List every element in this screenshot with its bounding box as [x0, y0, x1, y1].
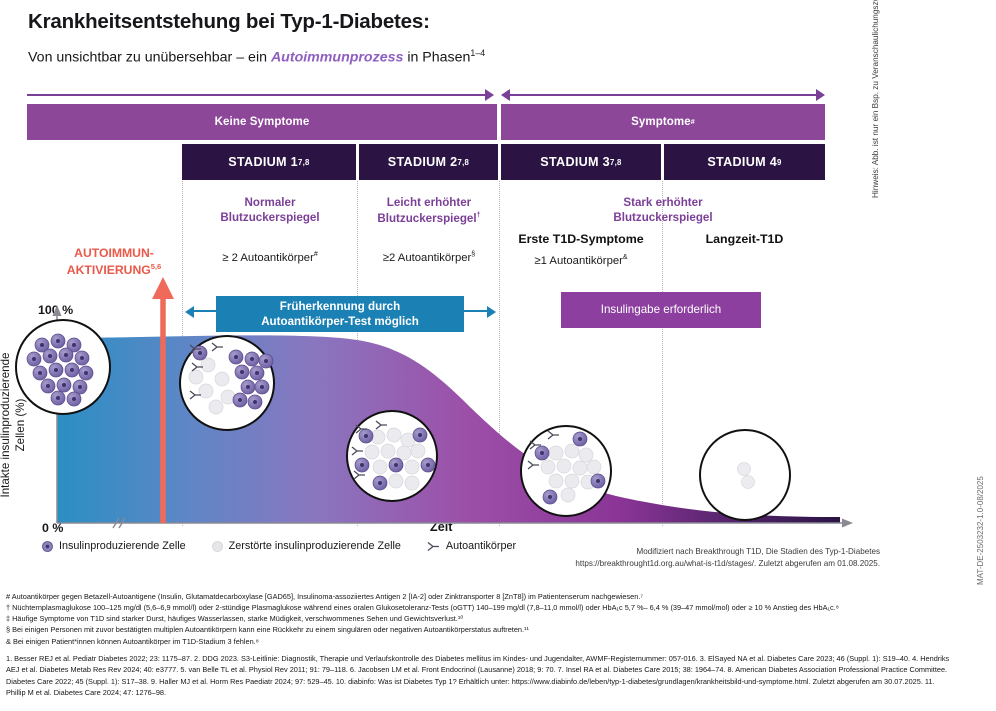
arrow-no-symptoms: [27, 89, 497, 101]
cell-cluster-1: [16, 320, 110, 414]
footnote-ddagger: ‡ Häufige Symptome von T1D sind starker …: [6, 613, 936, 624]
stage2-glucose-superscript: †: [477, 210, 481, 219]
footnote-section: § Bei einigen Personen mit zuvor bestäti…: [6, 624, 936, 635]
insulin-cell-decline-chart: [0, 295, 880, 540]
symptom-bar-symptoms: Symptome#: [501, 104, 825, 140]
stage3-symptom-title: Erste T1D-Symptome: [501, 231, 661, 247]
destroyed-cell-marker-icon: [212, 541, 223, 552]
symptom-bar-none: Keine Symptome: [27, 104, 497, 140]
stage-bar-4-label: STADIUM 4: [707, 155, 777, 169]
mat-code: MAT-DE-2503232-1.0-08/2025: [976, 476, 985, 585]
stage-bar-3-label: STADIUM 3: [540, 155, 610, 169]
stage3-symptom-title-text: Erste T1D-Symptome: [518, 232, 643, 246]
source-line1: Modifiziert nach Breakthrough T1D, Die S…: [636, 547, 880, 556]
stage-bar-4-superscript: 9: [777, 158, 782, 167]
footnotes-block: # Autoantikörper gegen Betazell-Autoanti…: [6, 591, 936, 647]
legend-item-intact-cell: Insulinproduzierende Zelle: [42, 540, 186, 552]
autoimmune-line1: AUTOIMMUN-: [74, 246, 154, 260]
symptom-bar-symptoms-superscript: #: [691, 118, 695, 126]
autoimmune-activation-label: AUTOIMMUN- AKTIVIERUNG5,6: [54, 246, 174, 279]
stage2-autoantibody-label: ≥2 Autoantikörper§: [359, 250, 499, 266]
subtitle-emphasis: Autoimmunprozess: [271, 50, 403, 66]
stage3-autoantibody-text: ≥1 Autoantikörper: [534, 255, 622, 267]
stage3-glucose-line2: Blutzuckerspiegel: [613, 211, 712, 224]
illustration-disclaimer: Hinweis: Abb. ist nur ein Bsp. zu Verans…: [871, 0, 880, 198]
autoimmune-line2: AKTIVIERUNG: [67, 263, 151, 277]
page-title: Krankheitsentstehung bei Typ-1-Diabetes:: [28, 10, 430, 34]
chart-legend: Insulinproduzierende Zelle Zerstörte ins…: [42, 540, 516, 552]
stage-bar-3-superscript: 7,8: [610, 158, 622, 167]
stage3-autoantibody-label: ≥1 Autoantikörper&: [501, 253, 661, 269]
stage2-glucose-line2: Blutzuckerspiegel: [377, 212, 476, 225]
stage2-glucose-label: Leicht erhöhter Blutzuckerspiegel†: [359, 195, 499, 226]
stage3-autoantibody-superscript: &: [623, 254, 628, 261]
infographic-page: Krankheitsentstehung bei Typ-1-Diabetes:…: [0, 0, 996, 711]
footnote-ampersand: & Bei einigen Patient*innen können Autoa…: [6, 636, 936, 647]
intact-cell-marker-icon: [42, 541, 53, 552]
stage-bar-2-superscript: 7,8: [457, 158, 469, 167]
stage-bar-1-label: STADIUM 1: [228, 155, 298, 169]
autoimmune-superscript: 5,6: [151, 262, 162, 271]
stage4-title-text: Langzeit-T1D: [706, 232, 784, 246]
stage-bar-2-label: STADIUM 2: [388, 155, 458, 169]
legend-label-antibody: Autoantikörper: [446, 540, 516, 552]
references-block: 1. Besser REJ et al. Pediatr Diabetes 20…: [6, 653, 952, 699]
stage-bar-2: STADIUM 27,8: [359, 144, 498, 180]
antibody-marker-icon: [427, 541, 440, 552]
footnote-hash: # Autoantikörper gegen Betazell-Autoanti…: [6, 591, 936, 602]
stage1-glucose-label: Normaler Blutzuckerspiegel: [184, 195, 356, 226]
stage1-glucose-line2: Blutzuckerspiegel: [220, 211, 319, 224]
source-attribution: Modifiziert nach Breakthrough T1D, Die S…: [575, 546, 880, 569]
stage-bar-1: STADIUM 17,8: [182, 144, 356, 180]
stage2-autoantibody-text: ≥2 Autoantikörper: [383, 252, 471, 264]
chart-y-axis-arrow-icon: [53, 305, 62, 316]
subtitle-pre: Von unsichtbar zu unübersehbar – ein: [28, 50, 271, 66]
stage1-autoantibody-text: ≥ 2 Autoantikörper: [222, 252, 314, 264]
stage1-autoantibody-label: ≥ 2 Autoantikörper#: [184, 250, 356, 266]
stage3-glucose-line1: Stark erhöhter: [623, 196, 702, 209]
legend-item-destroyed-cell: Zerstörte insulinproduzierende Zelle: [212, 540, 401, 552]
chart-x-axis-arrow-icon: [842, 519, 853, 528]
stage2-autoantibody-superscript: §: [471, 251, 475, 258]
symptom-bar-symptoms-label: Symptome: [631, 116, 691, 128]
stage3-glucose-label: Stark erhöhter Blutzuckerspiegel: [501, 195, 825, 226]
cell-cluster-2: [180, 336, 274, 430]
legend-label-destroyed-cell: Zerstörte insulinproduzierende Zelle: [229, 540, 401, 552]
cell-cluster-5: [700, 430, 790, 520]
subtitle-post: in Phasen: [403, 50, 470, 66]
subtitle-superscript: 1–4: [470, 48, 485, 58]
page-subtitle: Von unsichtbar zu unübersehbar – ein Aut…: [28, 48, 485, 66]
stage4-title: Langzeit-T1D: [664, 231, 825, 247]
stage-bar-1-superscript: 7,8: [298, 158, 310, 167]
legend-label-intact-cell: Insulinproduzierende Zelle: [59, 540, 186, 552]
stage1-autoantibody-superscript: #: [314, 251, 318, 258]
stage-bar-4: STADIUM 49: [664, 144, 825, 180]
stage2-glucose-line1: Leicht erhöhter: [387, 196, 471, 209]
stage-bar-3: STADIUM 37,8: [501, 144, 661, 180]
arrow-symptoms: [501, 89, 825, 101]
cell-cluster-3: [347, 411, 437, 501]
stage1-glucose-line1: Normaler: [245, 196, 296, 209]
symptom-bar-none-label: Keine Symptome: [215, 116, 310, 128]
cell-cluster-4: [521, 426, 611, 516]
legend-item-antibody: Autoantikörper: [427, 540, 516, 552]
source-line2: https://breakthrought1d.org.au/what-is-t…: [575, 559, 880, 568]
footnote-dagger: † Nüchternplasmaglukose 100–125 mg/dl (5…: [6, 602, 936, 613]
